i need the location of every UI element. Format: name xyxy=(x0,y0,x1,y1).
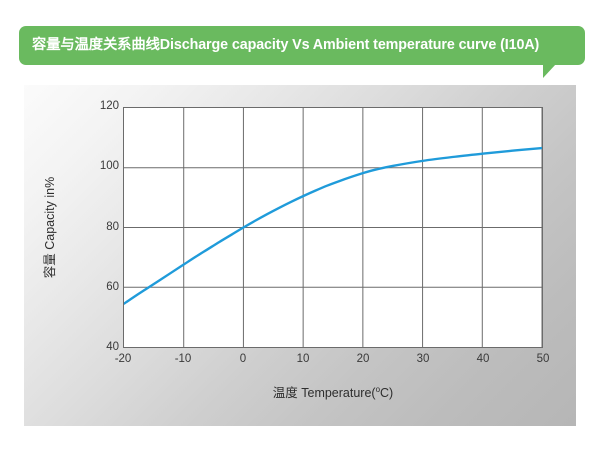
y-axis-tick-label: 120 xyxy=(85,101,119,113)
y-axis-title: 容量 Capacity in% xyxy=(38,107,60,348)
x-axis-title-text: 温度 Temperature( xyxy=(273,386,376,400)
x-axis-tick-label: 20 xyxy=(357,354,370,366)
speech-bubble-tail-icon xyxy=(543,64,556,78)
data-series-line xyxy=(124,148,542,304)
x-axis-tick-label: -20 xyxy=(115,354,132,366)
x-axis-tick-labels: -20-1001020304050 xyxy=(123,354,543,374)
y-axis-tick-label: 80 xyxy=(85,222,119,234)
plot-area xyxy=(123,107,543,348)
chart-panel: 406080100120 容量 Capacity in% -20-1001020… xyxy=(24,85,576,426)
x-axis-tick-label: 10 xyxy=(297,354,310,366)
y-axis-tick-label: 40 xyxy=(85,342,119,354)
x-axis-tick-label: 50 xyxy=(537,354,550,366)
x-axis-tick-label: 30 xyxy=(417,354,430,366)
x-axis-tick-label: 0 xyxy=(240,354,246,366)
x-axis-tick-label: -10 xyxy=(175,354,192,366)
title-banner: 容量与温度关系曲线Discharge capacity Vs Ambient t… xyxy=(19,26,585,65)
x-axis-title: 温度 Temperature(oC) xyxy=(123,382,543,401)
y-axis-tick-label: 100 xyxy=(85,161,119,173)
chart-title: 容量与温度关系曲线Discharge capacity Vs Ambient t… xyxy=(32,38,539,52)
chart-screenshot: 容量与温度关系曲线Discharge capacity Vs Ambient t… xyxy=(0,0,600,451)
y-axis-title-text: 容量 Capacity in% xyxy=(40,177,59,278)
x-axis-tick-label: 40 xyxy=(477,354,490,366)
x-axis-title-suffix: C) xyxy=(380,386,393,400)
y-axis-tick-label: 60 xyxy=(85,282,119,294)
y-axis-tick-labels: 406080100120 xyxy=(81,85,119,426)
plot-svg xyxy=(124,108,542,347)
